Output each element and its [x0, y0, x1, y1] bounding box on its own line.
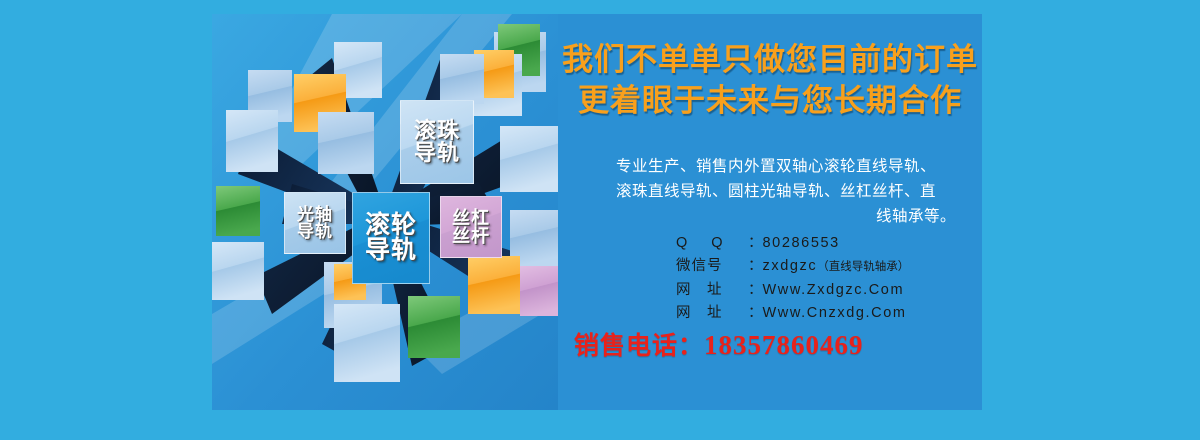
- headline: 我们不单单只做您目前的订单 更着眼于未来与您长期合作: [558, 40, 982, 122]
- exploding-cubes-illustration: 滚珠 导轨 光轴 导轨 滚轮 导轨 丝杠 丝杆: [212, 14, 558, 410]
- cube-label-line: 导轨: [297, 223, 333, 240]
- qq-separator: ：: [748, 232, 763, 255]
- wechat-separator: ：: [748, 255, 763, 278]
- sales-phone-line[interactable]: 销售电话：18357860469: [574, 326, 974, 362]
- website-2-value[interactable]: Www.Cnzxdg.Com: [763, 302, 907, 325]
- website-2-label: 网 址: [676, 302, 748, 325]
- wechat-value[interactable]: zxdgzc: [763, 255, 818, 278]
- cube-label-line: 丝杠: [452, 209, 490, 227]
- sales-phone-label: 销售电话：: [574, 332, 704, 360]
- contact-row-website-1: 网 址 ： Www.Zxdgzc.Com: [676, 279, 976, 302]
- description-line-2: 滚珠直线导轨、圆柱光轴导轨、丝杠丝杆、直: [590, 179, 962, 204]
- headline-line-1: 我们不单单只做您目前的订单: [558, 40, 982, 81]
- cube-label-line: 光轴: [297, 206, 333, 223]
- cube-label-line: 滚轮: [365, 213, 417, 239]
- contact-row-wechat: 微信号 ： zxdgzc （直线导轨轴承）: [676, 255, 976, 278]
- cube-label-line: 丝杆: [452, 227, 490, 245]
- cube-label-line: 导轨: [414, 142, 460, 164]
- cube-label-line: 导轨: [365, 238, 417, 264]
- description-line-1: 专业生产、销售内外置双轴心滚轮直线导轨、: [590, 154, 962, 179]
- contact-info-block: Q Q ： 80286553 微信号 ： zxdgzc （直线导轨轴承） 网 址…: [676, 232, 976, 326]
- contact-row-qq: Q Q ： 80286553: [676, 232, 976, 255]
- promo-banner: 滚珠 导轨 光轴 导轨 滚轮 导轨 丝杠 丝杆 我们不单单只做您目前的订单 更着…: [212, 14, 982, 410]
- sales-phone-number[interactable]: 18357860469: [704, 330, 864, 360]
- wechat-label: 微信号: [676, 255, 748, 278]
- description-paragraph: 专业生产、销售内外置双轴心滚轮直线导轨、 滚珠直线导轨、圆柱光轴导轨、丝杠丝杆、…: [590, 154, 962, 229]
- qq-label: Q Q: [676, 232, 748, 255]
- qq-value[interactable]: 80286553: [763, 232, 840, 255]
- website-1-value[interactable]: Www.Zxdgzc.Com: [763, 279, 905, 302]
- website-1-label: 网 址: [676, 279, 748, 302]
- cube-label-line: 滚珠: [414, 120, 460, 142]
- product-cube-ball-guide[interactable]: 滚珠 导轨: [400, 100, 474, 184]
- description-line-3: 线轴承等。: [590, 204, 962, 229]
- product-cube-lead-screw[interactable]: 丝杠 丝杆: [440, 196, 502, 258]
- headline-line-2: 更着眼于未来与您长期合作: [558, 81, 982, 122]
- banner-text-column: 我们不单单只做您目前的订单 更着眼于未来与您长期合作 专业生产、销售内外置双轴心…: [558, 14, 982, 410]
- product-cube-shaft-guide[interactable]: 光轴 导轨: [284, 192, 346, 254]
- contact-row-website-2: 网 址 ： Www.Cnzxdg.Com: [676, 302, 976, 325]
- product-cube-roller-guide[interactable]: 滚轮 导轨: [352, 192, 430, 284]
- wechat-note: （直线导轨轴承）: [817, 258, 909, 277]
- website-1-separator: ：: [748, 279, 763, 302]
- website-2-separator: ：: [748, 302, 763, 325]
